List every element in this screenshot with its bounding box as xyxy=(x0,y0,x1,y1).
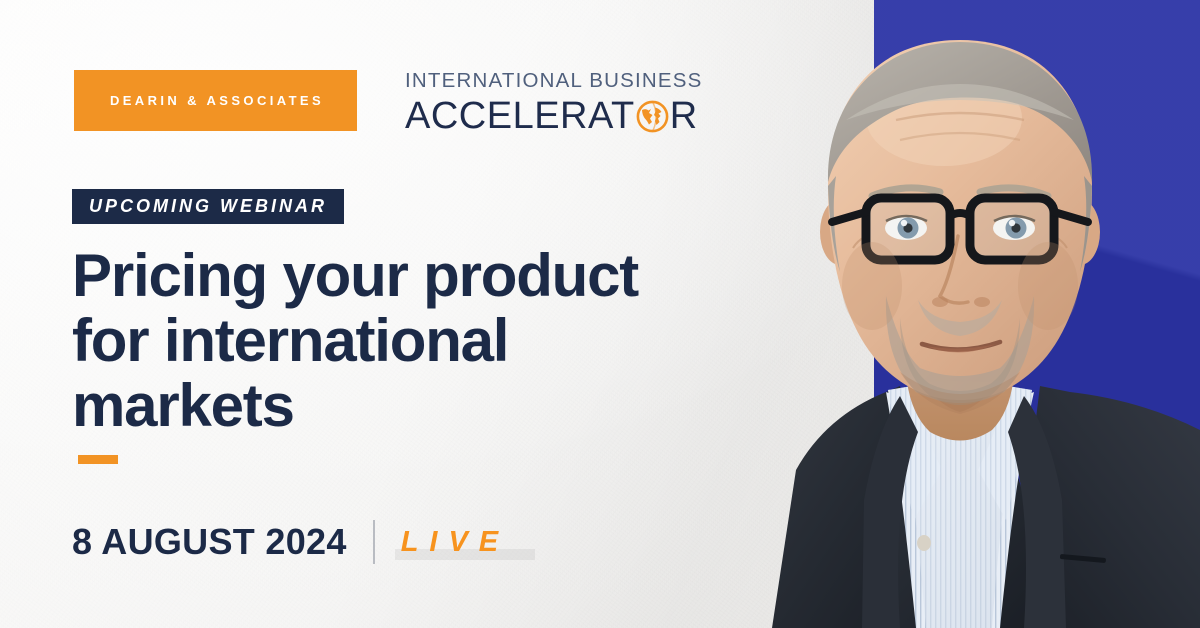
globe-icon xyxy=(636,100,669,133)
headline-line-1: Pricing your product xyxy=(72,243,762,308)
live-badge: LIVE xyxy=(401,528,509,557)
accelerator-text-part1: ACCELERAT xyxy=(405,97,635,135)
upcoming-webinar-label: UPCOMING WEBINAR xyxy=(89,196,327,217)
headline-line-2: for international xyxy=(72,308,762,373)
dearin-associates-logo: DEARIN & ASSOCIATES xyxy=(74,70,357,131)
headline-line-3: markets xyxy=(72,373,762,438)
webinar-promo-banner: DEARIN & ASSOCIATES INTERNATIONAL BUSINE… xyxy=(0,0,1200,628)
event-date-row: 8 AUGUST 2024 LIVE xyxy=(72,519,509,565)
accelerator-text-part2: R xyxy=(670,97,698,135)
page-title: Pricing your product for international m… xyxy=(72,243,762,438)
event-date: 8 AUGUST 2024 xyxy=(72,524,347,560)
dearin-associates-label: DEARIN & ASSOCIATES xyxy=(107,93,324,108)
live-label: LIVE xyxy=(401,528,509,557)
international-business-accelerator-logo: INTERNATIONAL BUSINESS ACCELERAT R xyxy=(405,70,703,135)
international-business-label: INTERNATIONAL BUSINESS xyxy=(405,71,703,92)
upcoming-webinar-badge: UPCOMING WEBINAR xyxy=(72,189,344,224)
orange-accent-rule xyxy=(78,455,118,464)
brand-lockup: DEARIN & ASSOCIATES INTERNATIONAL BUSINE… xyxy=(74,70,703,135)
accelerator-wordmark: ACCELERAT R xyxy=(405,97,698,135)
date-live-divider xyxy=(373,520,375,564)
